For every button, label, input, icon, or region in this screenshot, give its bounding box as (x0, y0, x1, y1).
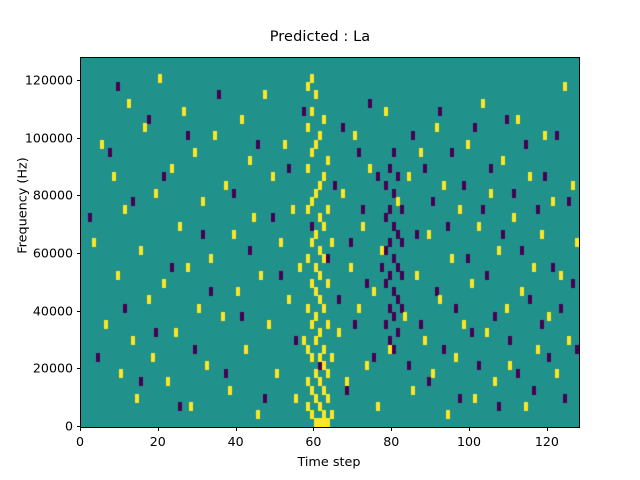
x-tick-label: 0 (50, 434, 110, 449)
y-tick-mark (77, 195, 81, 196)
heatmap-axes[interactable] (80, 57, 580, 428)
x-tick-mark (236, 427, 237, 431)
x-tick-label: 100 (439, 434, 499, 449)
matplotlib-figure: Predicted : La 0200004000060000800001000… (0, 0, 640, 480)
x-tick-mark (547, 427, 548, 431)
x-axis-label: Time step (80, 455, 578, 470)
x-tick-mark (158, 427, 159, 431)
x-tick-label: 120 (517, 434, 577, 449)
x-tick-label: 20 (128, 434, 188, 449)
y-axis-label: Frequency (Hz) (16, 136, 31, 276)
x-tick-mark (313, 427, 314, 431)
x-tick-mark (391, 427, 392, 431)
x-axis-ticks: 020406080100120 (80, 427, 578, 457)
x-tick-label: 40 (206, 434, 266, 449)
x-tick-mark (80, 427, 81, 431)
heatmap-canvas[interactable] (81, 58, 579, 427)
x-tick-label: 80 (361, 434, 421, 449)
y-tick-label: 120000 (8, 73, 80, 88)
y-tick-mark (77, 138, 81, 139)
y-axis-ticks: 020000400006000080000100000120000 (0, 57, 80, 426)
y-tick-mark (77, 80, 81, 81)
y-tick-label: 40000 (8, 303, 80, 318)
y-tick-mark (77, 368, 81, 369)
y-tick-mark (77, 311, 81, 312)
x-tick-mark (469, 427, 470, 431)
y-tick-mark (77, 253, 81, 254)
y-tick-label: 20000 (8, 361, 80, 376)
page-title: Predicted : La (0, 29, 640, 45)
x-tick-label: 60 (283, 434, 343, 449)
y-tick-label: 0 (8, 419, 80, 434)
